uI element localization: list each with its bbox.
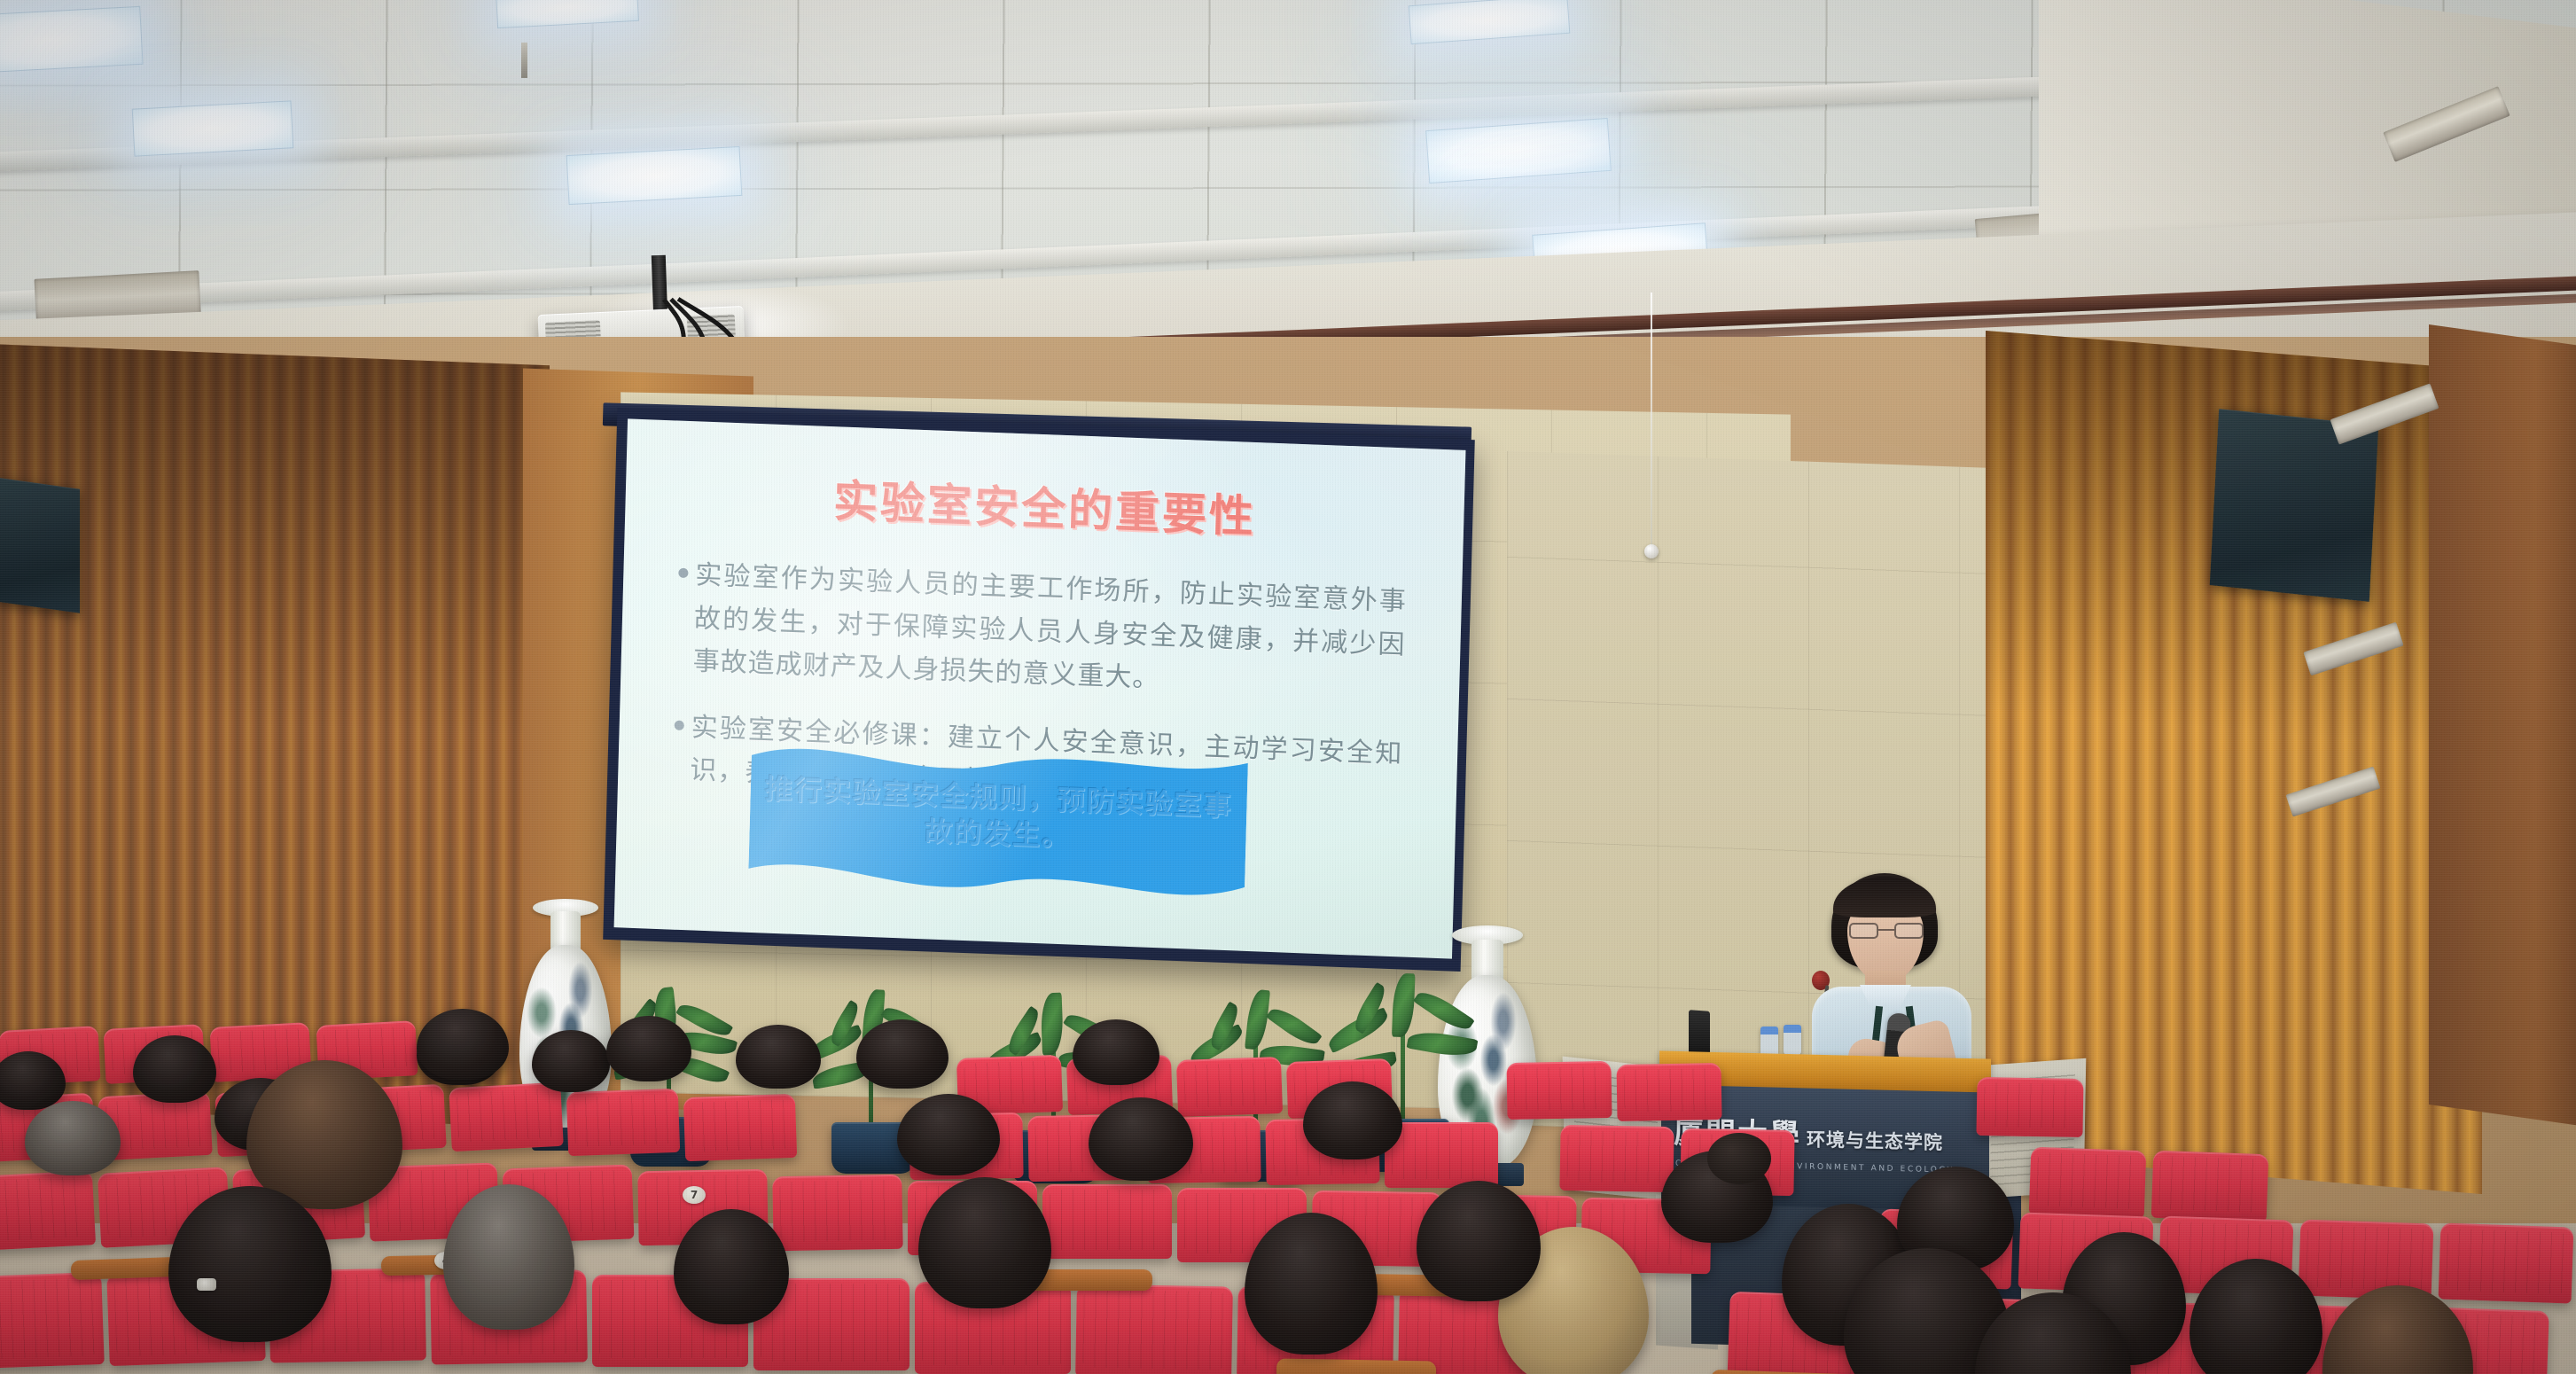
ceiling-light-panel bbox=[0, 6, 144, 74]
slide-bullet-text: 实验室作为实验人员的主要工作场所，防止实验室意外事故的发生，对于保障实验人员人身… bbox=[692, 554, 1407, 710]
audience-head bbox=[1073, 1019, 1159, 1085]
wall-shadow bbox=[0, 344, 550, 738]
seat[interactable] bbox=[1385, 1122, 1498, 1188]
audience-head bbox=[133, 1035, 216, 1103]
seat[interactable] bbox=[772, 1175, 902, 1252]
seat[interactable] bbox=[1616, 1063, 1721, 1121]
wall-speaker-left bbox=[0, 477, 80, 613]
lecture-hall-photo: 实验室安全的重要性 实验室作为实验人员的主要工作场所，防止实验室意外事故的发生，… bbox=[0, 0, 2576, 1374]
projection-screen[interactable]: 实验室安全的重要性 实验室作为实验人员的主要工作场所，防止实验室意外事故的发生，… bbox=[603, 408, 1475, 972]
auditorium-seating: 4 1 7 bbox=[0, 993, 2576, 1374]
audience-head bbox=[856, 1019, 948, 1089]
audience-head bbox=[532, 1030, 610, 1092]
glasses-icon bbox=[1849, 923, 1924, 939]
presenter-fringe bbox=[1833, 877, 1936, 917]
bullet-dot-icon bbox=[675, 720, 684, 730]
seat[interactable] bbox=[2439, 1222, 2574, 1303]
audience-head bbox=[25, 1101, 121, 1175]
seat[interactable] bbox=[1042, 1184, 1172, 1259]
seat[interactable] bbox=[2151, 1151, 2269, 1222]
audience-head bbox=[897, 1094, 1000, 1175]
audience-head bbox=[674, 1209, 789, 1324]
ceiling-light-panel bbox=[132, 100, 294, 156]
hanging-wire bbox=[1651, 293, 1652, 548]
audience-head bbox=[606, 1016, 691, 1081]
seat[interactable] bbox=[683, 1094, 797, 1161]
seat[interactable] bbox=[1976, 1077, 2083, 1137]
hair-bun bbox=[1707, 1133, 1771, 1184]
seat[interactable] bbox=[566, 1089, 680, 1156]
ceiling-light-panel bbox=[566, 146, 743, 205]
slide-title: 实验室安全的重要性 bbox=[667, 459, 1422, 551]
bullet-dot-icon bbox=[678, 568, 688, 578]
seat[interactable] bbox=[0, 1170, 96, 1252]
slide-banner: 推行实验室安全规则，预防实验室事故的发生。 bbox=[748, 736, 1248, 912]
slide-surface: 实验室安全的重要性 实验室作为实验人员的主要工作场所，防止实验室意外事故的发生，… bbox=[614, 418, 1466, 958]
seat-armrest bbox=[71, 1257, 178, 1280]
audience-head bbox=[417, 1009, 509, 1080]
audience-head bbox=[1089, 1097, 1193, 1181]
seat[interactable] bbox=[1176, 1057, 1283, 1117]
audience-head bbox=[1303, 1081, 1402, 1159]
seat[interactable] bbox=[1559, 1125, 1674, 1192]
ceiling-hook-icon bbox=[521, 43, 527, 78]
hair-clip bbox=[197, 1278, 216, 1291]
seat-armrest bbox=[1276, 1358, 1436, 1374]
slide-bullet-item: 实验室作为实验人员的主要工作场所，防止实验室意外事故的发生，对于保障实验人员人身… bbox=[675, 554, 1407, 711]
seat[interactable] bbox=[0, 1272, 105, 1370]
seat[interactable] bbox=[449, 1082, 564, 1152]
seat[interactable] bbox=[1506, 1061, 1612, 1120]
seat-number-badge: 7 bbox=[683, 1186, 706, 1204]
audience-head bbox=[736, 1025, 821, 1089]
seat[interactable] bbox=[2029, 1147, 2147, 1218]
hanging-weight bbox=[1644, 544, 1659, 558]
seat[interactable] bbox=[1075, 1284, 1233, 1374]
